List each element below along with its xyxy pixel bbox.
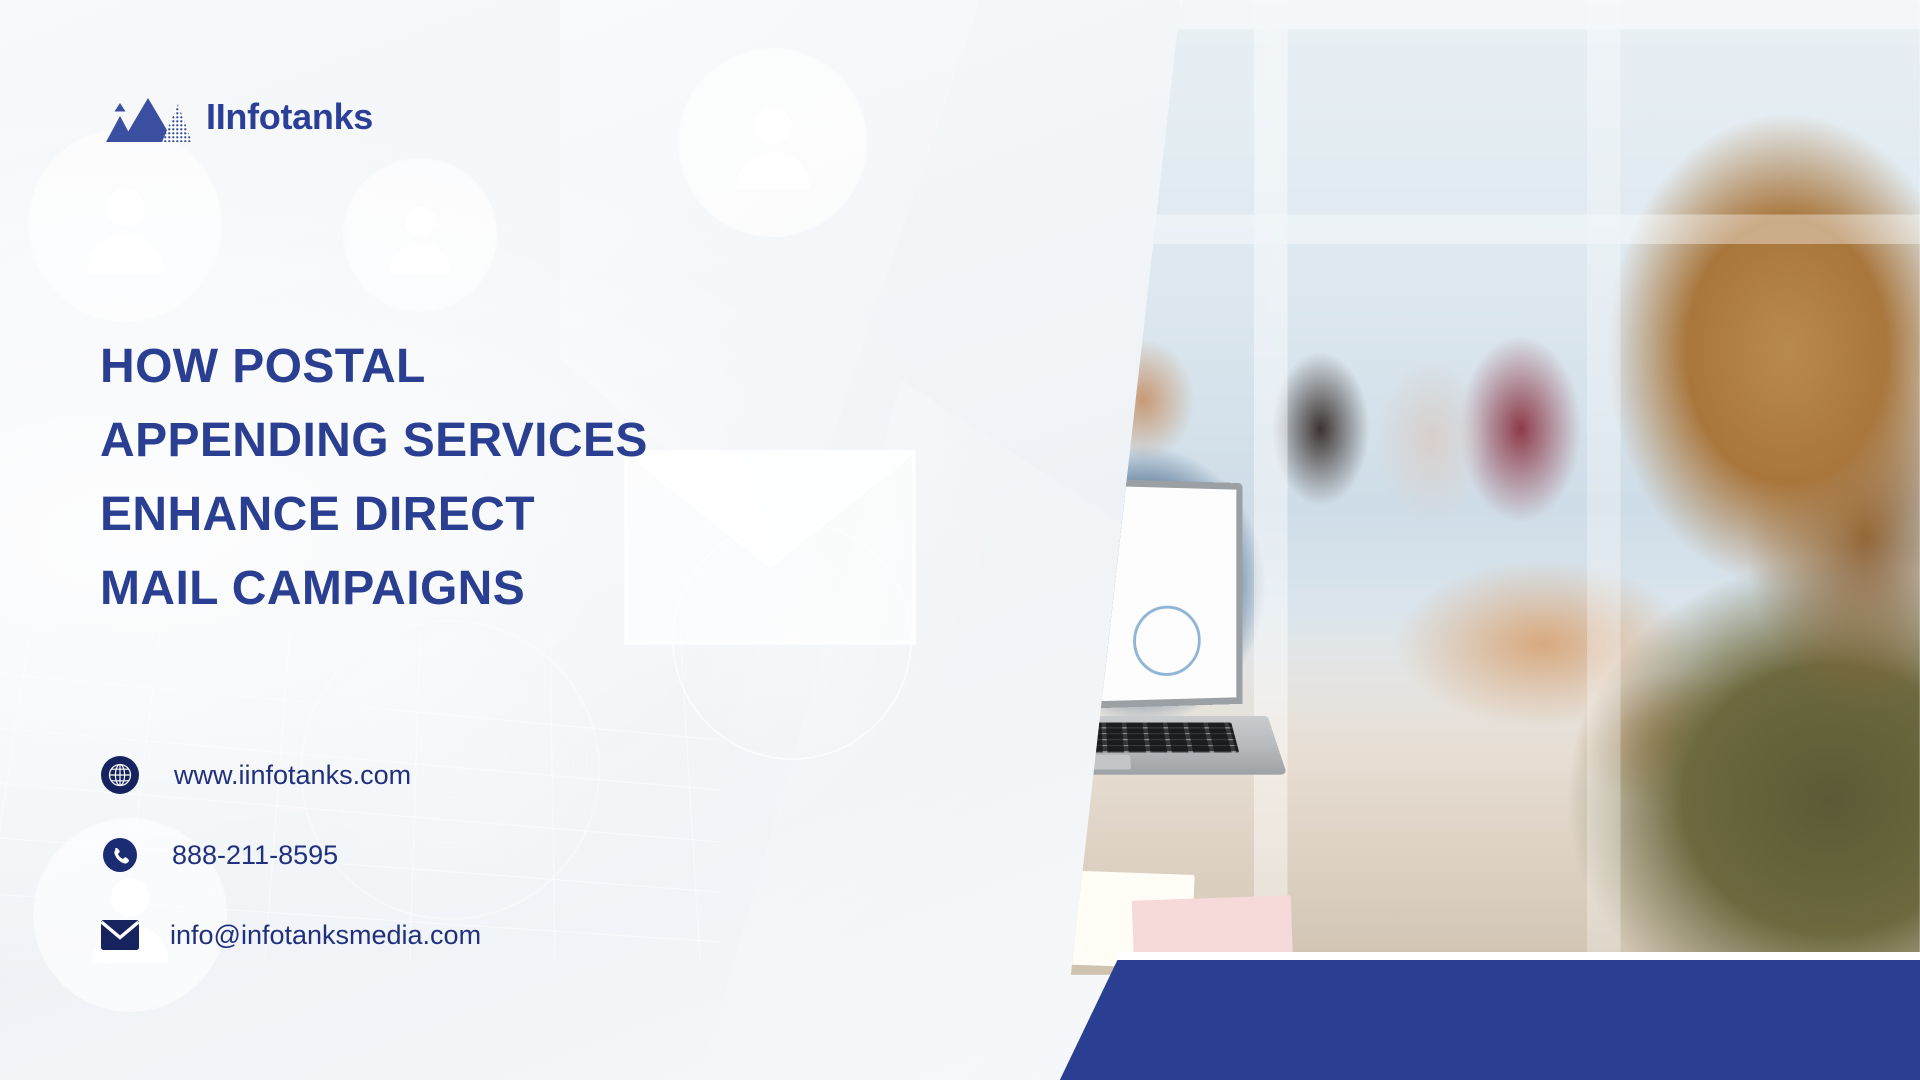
website-label: www.iinfotanks.com	[174, 760, 411, 791]
email-label: info@infotanksmedia.com	[170, 920, 481, 951]
globe-icon	[100, 755, 140, 795]
headline-line-2: APPENDING SERVICES	[100, 404, 820, 478]
page-title: HOW POSTAL APPENDING SERVICES ENHANCE DI…	[100, 330, 820, 626]
phone-icon	[100, 835, 140, 875]
brand-logo[interactable]: IInfotanks	[100, 92, 373, 142]
contact-list: www.iinfotanks.com 888-211-8595	[100, 755, 481, 955]
brand-name: IInfotanks	[206, 99, 373, 135]
contact-email[interactable]: info@infotanksmedia.com	[100, 915, 481, 955]
contact-website[interactable]: www.iinfotanks.com	[100, 755, 481, 795]
headline-line-4: MAIL CAMPAIGNS	[100, 552, 820, 626]
banner-root: IInfotanks HOW POSTAL APPENDING SERVICES…	[0, 0, 1920, 1080]
headline-line-3: ENHANCE DIRECT	[100, 478, 820, 552]
person-in-circle-icon	[680, 50, 865, 235]
donut-ring	[1133, 606, 1200, 677]
headline-line-1: HOW POSTAL	[100, 330, 820, 404]
envelope-icon	[100, 915, 140, 955]
phone-label: 888-211-8595	[172, 840, 338, 871]
contact-phone[interactable]: 888-211-8595	[100, 835, 481, 875]
mountain-peaks-icon	[100, 92, 192, 142]
person-in-circle-icon	[30, 130, 220, 320]
person-in-circle-icon	[345, 160, 495, 310]
left-content-panel: IInfotanks HOW POSTAL APPENDING SERVICES…	[0, 0, 1180, 1080]
